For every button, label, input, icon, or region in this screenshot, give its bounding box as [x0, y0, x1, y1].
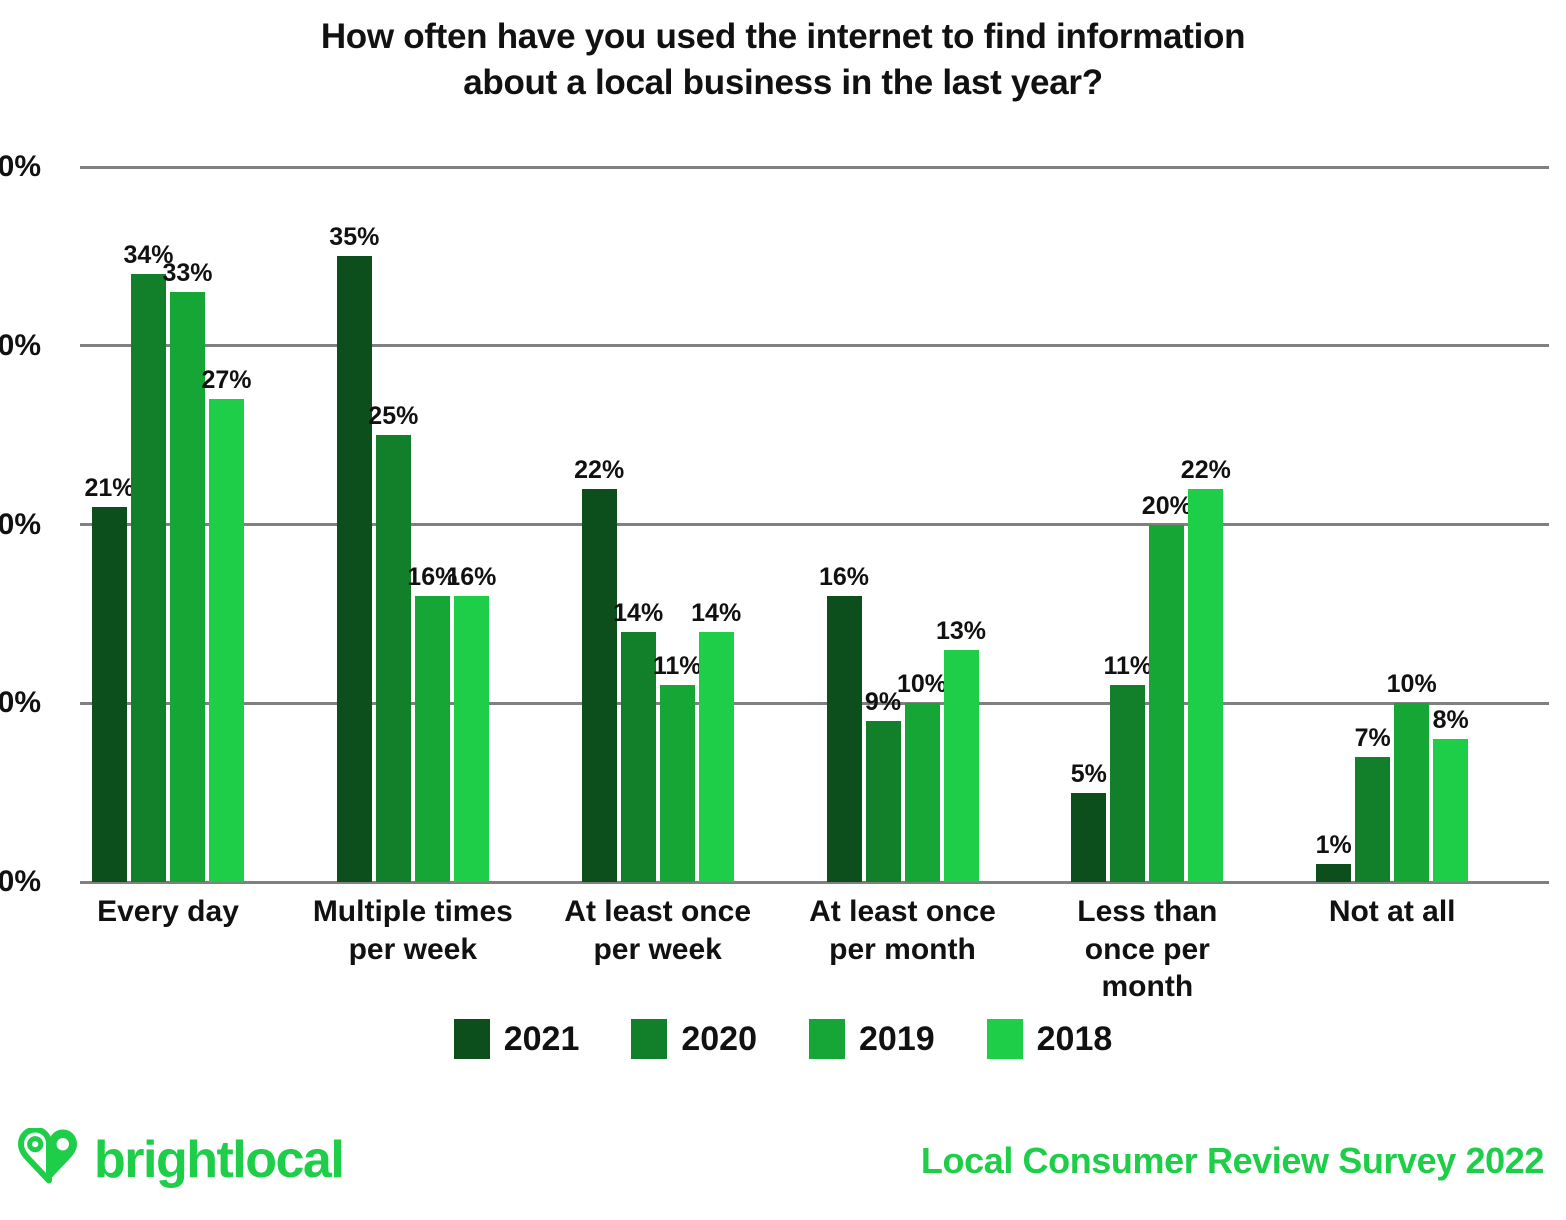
- bar-rect[interactable]: [1316, 864, 1351, 882]
- legend-label: 2019: [859, 1022, 935, 1056]
- bar-2020-at-least-once-per-month[interactable]: 9%: [866, 687, 901, 882]
- legend-item-2018[interactable]: 2018: [987, 1019, 1113, 1059]
- bar-rect[interactable]: [1149, 525, 1184, 883]
- brand-logo[interactable]: brightlocal: [18, 1128, 343, 1191]
- bar-rect[interactable]: [699, 632, 734, 882]
- bar-rect[interactable]: [1433, 739, 1468, 882]
- category-label-line: per week: [528, 931, 788, 969]
- plot-area: 0%10%20%30%40% 21%34%33%27%35%25%16%16%2…: [80, 167, 1549, 882]
- bar-group: 21%34%33%27%: [92, 167, 244, 882]
- bar-2019-at-least-once-per-week[interactable]: 11%: [660, 651, 695, 882]
- bar-value-label: 10%: [897, 672, 947, 697]
- category-label-line: per month: [773, 931, 1033, 969]
- category-label-at-least-once-per-month: At least onceper month: [773, 893, 1033, 968]
- y-axis-tick-label: 40%: [0, 152, 41, 182]
- bar-rect[interactable]: [905, 703, 940, 882]
- bar-group: 35%25%16%16%: [337, 167, 489, 882]
- bar-value-label: 21%: [84, 476, 134, 501]
- category-label-less-than-once-per-month: Less thanonce permonth: [1017, 893, 1277, 1006]
- y-axis-tick-label: 0%: [0, 867, 41, 897]
- bar-2018-at-least-once-per-week[interactable]: 14%: [699, 598, 734, 882]
- bar-2021-at-least-once-per-week[interactable]: 22%: [582, 455, 617, 882]
- chart-title-line-1: How often have you used the internet to …: [0, 14, 1566, 60]
- legend-label: 2020: [681, 1022, 757, 1056]
- bar-2021-at-least-once-per-month[interactable]: 16%: [827, 562, 862, 882]
- bar-2018-every-day[interactable]: 27%: [209, 365, 244, 882]
- chart-legend: 2021202020192018: [0, 1019, 1566, 1059]
- bar-group: 16%9%10%13%: [827, 167, 979, 882]
- bar-rect[interactable]: [1071, 793, 1106, 882]
- bar-value-label: 22%: [574, 458, 624, 483]
- footer: brightlocal Local Consumer Review Survey…: [0, 1128, 1566, 1208]
- category-label-line: Less than: [1017, 893, 1277, 931]
- bar-2021-less-than-once-per-month[interactable]: 5%: [1071, 759, 1106, 882]
- legend-item-2020[interactable]: 2020: [631, 1019, 757, 1059]
- legend-swatch-icon: [987, 1019, 1023, 1059]
- bar-2021-every-day[interactable]: 21%: [92, 473, 127, 882]
- brightlocal-heart-pin-icon: [18, 1128, 80, 1191]
- legend-item-2019[interactable]: 2019: [809, 1019, 935, 1059]
- bar-rect[interactable]: [1394, 703, 1429, 882]
- bar-value-label: 27%: [201, 368, 251, 393]
- bar-value-label: 16%: [446, 565, 496, 590]
- bar-group: 22%14%11%14%: [582, 167, 734, 882]
- bar-rect[interactable]: [944, 650, 979, 882]
- bar-rect[interactable]: [170, 292, 205, 882]
- bar-value-label: 20%: [1142, 494, 1192, 519]
- bar-2020-less-than-once-per-month[interactable]: 11%: [1110, 651, 1145, 882]
- bar-2019-less-than-once-per-month[interactable]: 20%: [1149, 491, 1184, 883]
- bar-rect[interactable]: [131, 274, 166, 882]
- y-axis-tick-label: 20%: [0, 510, 41, 540]
- bar-value-label: 11%: [1103, 654, 1152, 679]
- bar-2020-multiple-times-per-week[interactable]: 25%: [376, 401, 411, 882]
- bar-rect[interactable]: [621, 632, 656, 882]
- category-label-at-least-once-per-week: At least onceper week: [528, 893, 788, 968]
- bar-rect[interactable]: [209, 399, 244, 882]
- y-axis-tick-label: 30%: [0, 331, 41, 361]
- x-axis-category-labels: Every dayMultiple timesper weekAt least …: [80, 893, 1549, 1013]
- bar-rect[interactable]: [376, 435, 411, 882]
- bar-rect[interactable]: [1188, 489, 1223, 882]
- bar-2018-less-than-once-per-month[interactable]: 22%: [1188, 455, 1223, 882]
- bar-value-label: 14%: [613, 601, 663, 626]
- bar-rect[interactable]: [866, 721, 901, 882]
- bar-value-label: 13%: [936, 619, 986, 644]
- bar-value-label: 14%: [691, 601, 741, 626]
- category-label-every-day: Every day: [38, 893, 298, 931]
- bar-value-label: 35%: [329, 225, 379, 250]
- bar-value-label: 22%: [1181, 458, 1231, 483]
- bar-value-label: 33%: [162, 261, 212, 286]
- bar-2018-at-least-once-per-month[interactable]: 13%: [944, 616, 979, 882]
- bar-2021-multiple-times-per-week[interactable]: 35%: [337, 222, 372, 882]
- y-axis-tick-label: 10%: [0, 688, 41, 718]
- bar-2018-multiple-times-per-week[interactable]: 16%: [454, 562, 489, 882]
- category-label-not-at-all: Not at all: [1262, 893, 1522, 931]
- category-label-line: At least once: [528, 893, 788, 931]
- bar-rect[interactable]: [337, 256, 372, 882]
- chart-title: How often have you used the internet to …: [0, 14, 1566, 106]
- bar-2020-not-at-all[interactable]: 7%: [1355, 723, 1390, 882]
- legend-label: 2018: [1037, 1022, 1113, 1056]
- category-label-line: At least once: [773, 893, 1033, 931]
- bar-2019-every-day[interactable]: 33%: [170, 258, 205, 882]
- bar-group: 1%7%10%8%: [1316, 167, 1468, 882]
- bar-value-label: 25%: [368, 404, 418, 429]
- bar-value-label: 1%: [1316, 833, 1352, 858]
- category-label-line: Not at all: [1262, 893, 1522, 931]
- bar-2019-at-least-once-per-month[interactable]: 10%: [905, 669, 940, 882]
- category-label-line: once per: [1017, 931, 1277, 969]
- bar-value-label: 16%: [819, 565, 869, 590]
- category-label-line: per week: [283, 931, 543, 969]
- bar-group: 5%11%20%22%: [1071, 167, 1223, 882]
- category-label-line: Multiple times: [283, 893, 543, 931]
- bar-value-label: 8%: [1433, 708, 1469, 733]
- bar-2018-not-at-all[interactable]: 8%: [1433, 705, 1468, 882]
- bar-rect[interactable]: [454, 596, 489, 882]
- bar-2021-not-at-all[interactable]: 1%: [1316, 830, 1351, 882]
- bar-value-label: 5%: [1071, 762, 1107, 787]
- brand-wordmark: brightlocal: [94, 1134, 343, 1186]
- bar-rect[interactable]: [415, 596, 450, 882]
- bar-rect[interactable]: [660, 685, 695, 882]
- legend-swatch-icon: [631, 1019, 667, 1059]
- bar-value-label: 9%: [865, 690, 901, 715]
- category-label-line: month: [1017, 968, 1277, 1006]
- category-label-line: Every day: [38, 893, 298, 931]
- category-label-multiple-times-per-week: Multiple timesper week: [283, 893, 543, 968]
- bar-2020-every-day[interactable]: 34%: [131, 240, 166, 882]
- bars-layer: 21%34%33%27%35%25%16%16%22%14%11%14%16%9…: [80, 167, 1549, 882]
- bar-2019-not-at-all[interactable]: 10%: [1394, 669, 1429, 882]
- legend-item-2021[interactable]: 2021: [454, 1019, 580, 1059]
- bar-value-label: 11%: [653, 654, 702, 679]
- bar-rect[interactable]: [1355, 757, 1390, 882]
- bar-rect[interactable]: [1110, 685, 1145, 882]
- legend-label: 2021: [504, 1022, 580, 1056]
- bar-value-label: 10%: [1387, 672, 1437, 697]
- bar-value-label: 7%: [1355, 726, 1391, 751]
- legend-swatch-icon: [454, 1019, 490, 1059]
- bar-rect[interactable]: [827, 596, 862, 882]
- legend-swatch-icon: [809, 1019, 845, 1059]
- chart-title-line-2: about a local business in the last year?: [0, 60, 1566, 106]
- bar-rect[interactable]: [92, 507, 127, 882]
- survey-caption: Local Consumer Review Survey 2022: [921, 1140, 1544, 1182]
- bar-2020-at-least-once-per-week[interactable]: 14%: [621, 598, 656, 882]
- bar-rect[interactable]: [582, 489, 617, 882]
- bar-2019-multiple-times-per-week[interactable]: 16%: [415, 562, 450, 882]
